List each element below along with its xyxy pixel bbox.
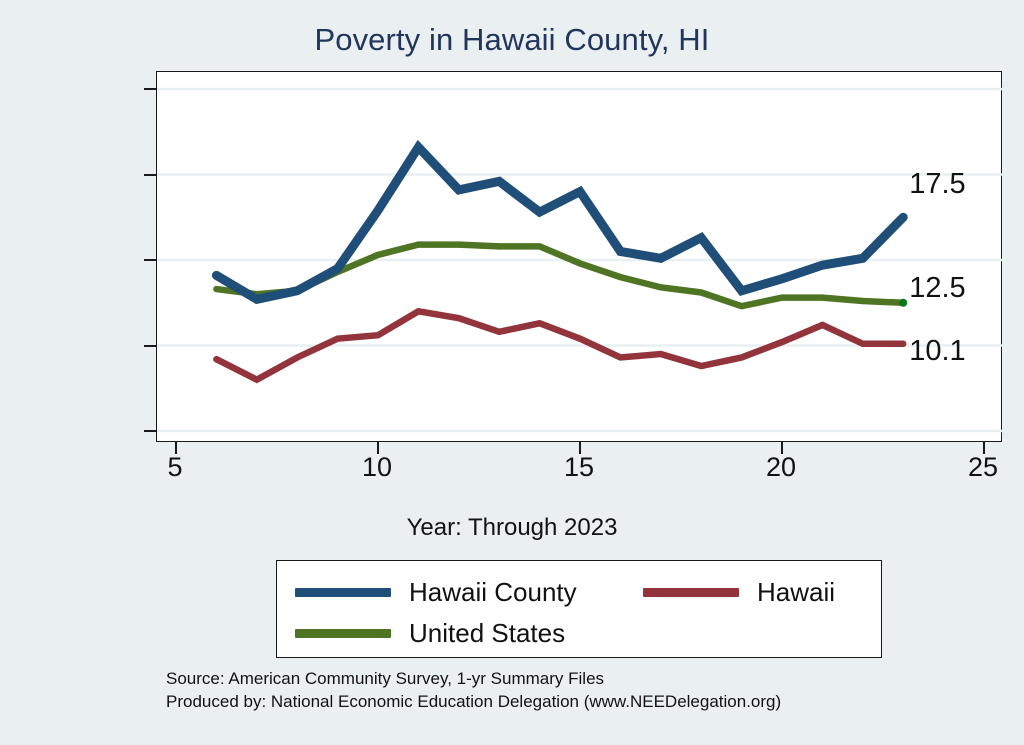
legend: Hawaii County Hawaii United States [276, 560, 882, 658]
legend-label-united-states: United States [409, 618, 565, 649]
y-tick-mark-15 [144, 259, 156, 261]
footer: Source: American Community Survey, 1-yr … [166, 668, 781, 714]
page-title: Poverty in Hawaii County, HI [0, 22, 1024, 58]
y-tick-mark-5 [144, 430, 156, 432]
y-tick-mark-20 [144, 174, 156, 176]
legend-swatch-united-states [295, 629, 391, 638]
y-axis-title: Percent [0, 170, 1, 370]
legend-label-hawaii: Hawaii [757, 577, 835, 608]
series-endpoint-marker-united-states [899, 299, 907, 307]
plot-area [156, 71, 1002, 442]
x-tick-label-25: 25 [923, 452, 1024, 483]
y-tick-mark-25 [144, 88, 156, 90]
chart-page: Poverty in Hawaii County, HI Percent 510… [0, 0, 1024, 745]
legend-item-united-states: United States [295, 618, 565, 649]
x-tick-mark-5 [175, 442, 177, 454]
series-canvas [157, 72, 1003, 443]
series-line-hawaii-county [216, 147, 903, 299]
end-label-united-states: 12.5 [909, 272, 965, 305]
x-tick-label-20: 20 [721, 452, 841, 483]
x-tick-label-10: 10 [317, 452, 437, 483]
x-tick-mark-15 [579, 442, 581, 454]
x-tick-label-5: 5 [115, 452, 235, 483]
x-axis-title: Year: Through 2023 [0, 514, 1024, 542]
legend-swatch-hawaii-county [295, 588, 391, 597]
legend-swatch-hawaii [643, 588, 739, 597]
y-tick-mark-10 [144, 345, 156, 347]
footer-producer: Produced by: National Economic Education… [166, 691, 781, 714]
footer-source: Source: American Community Survey, 1-yr … [166, 668, 781, 691]
legend-label-hawaii-county: Hawaii County [409, 577, 577, 608]
x-tick-mark-25 [983, 442, 985, 454]
end-label-hawaii-county: 17.5 [909, 168, 965, 201]
legend-item-hawaii-county: Hawaii County [295, 577, 577, 608]
legend-item-hawaii: Hawaii [643, 577, 835, 608]
x-tick-label-15: 15 [519, 452, 639, 483]
x-tick-mark-10 [377, 442, 379, 454]
end-label-hawaii: 10.1 [909, 335, 965, 368]
x-tick-mark-20 [781, 442, 783, 454]
